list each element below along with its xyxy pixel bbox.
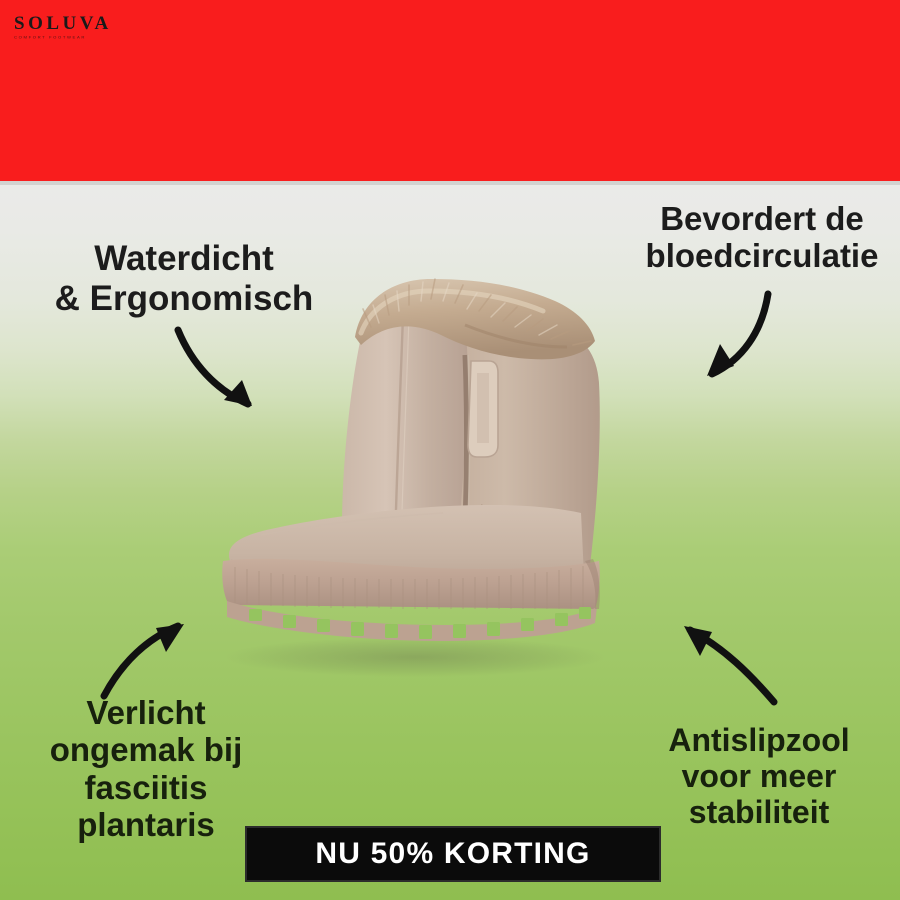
callout-fasciitis-line-2: ongemak bij (12, 731, 280, 768)
callout-circulation-line-1: Bevordert de (624, 200, 900, 237)
callout-waterproof-line-1: Waterdicht (24, 239, 344, 279)
callout-waterproof-line-2: & Ergonomisch (24, 279, 344, 319)
callout-waterproof: Waterdicht & Ergonomisch (24, 239, 344, 318)
callout-fasciitis-line-3: fasciitis (12, 769, 280, 806)
callout-circulation: Bevordert de bloedcirculatie (624, 200, 900, 275)
curved-arrow-up-right-icon (100, 612, 210, 707)
curved-arrow-down-left-icon (690, 288, 800, 388)
callout-fasciitis-line-4: plantaris (12, 806, 280, 843)
header-banner (0, 0, 900, 181)
curved-arrow-down-right-icon (172, 322, 282, 422)
callout-antislip: Antislipzool voor meer stabiliteit (618, 722, 900, 830)
callout-circulation-line-2: bloedcirculatie (624, 237, 900, 274)
brand-logo-wordmark: SOLUVA (14, 14, 134, 33)
callout-fasciitis: Verlicht ongemak bij fasciitis plantaris (12, 694, 280, 843)
discount-cta-label: NU 50% KORTING (315, 837, 590, 871)
brand-logo[interactable]: SOLUVA COMFORT FOOTWEAR (14, 14, 134, 40)
callout-antislip-line-2: voor meer (618, 758, 900, 794)
brand-logo-tagline: COMFORT FOOTWEAR (14, 36, 134, 40)
advertisement-canvas: SOLUVA COMFORT FOOTWEAR ORTHOPEDISTEN BE… (0, 0, 900, 900)
curved-arrow-up-left-icon (662, 612, 782, 707)
callout-antislip-line-1: Antislipzool (618, 722, 900, 758)
discount-cta-banner[interactable]: NU 50% KORTING (245, 826, 661, 882)
